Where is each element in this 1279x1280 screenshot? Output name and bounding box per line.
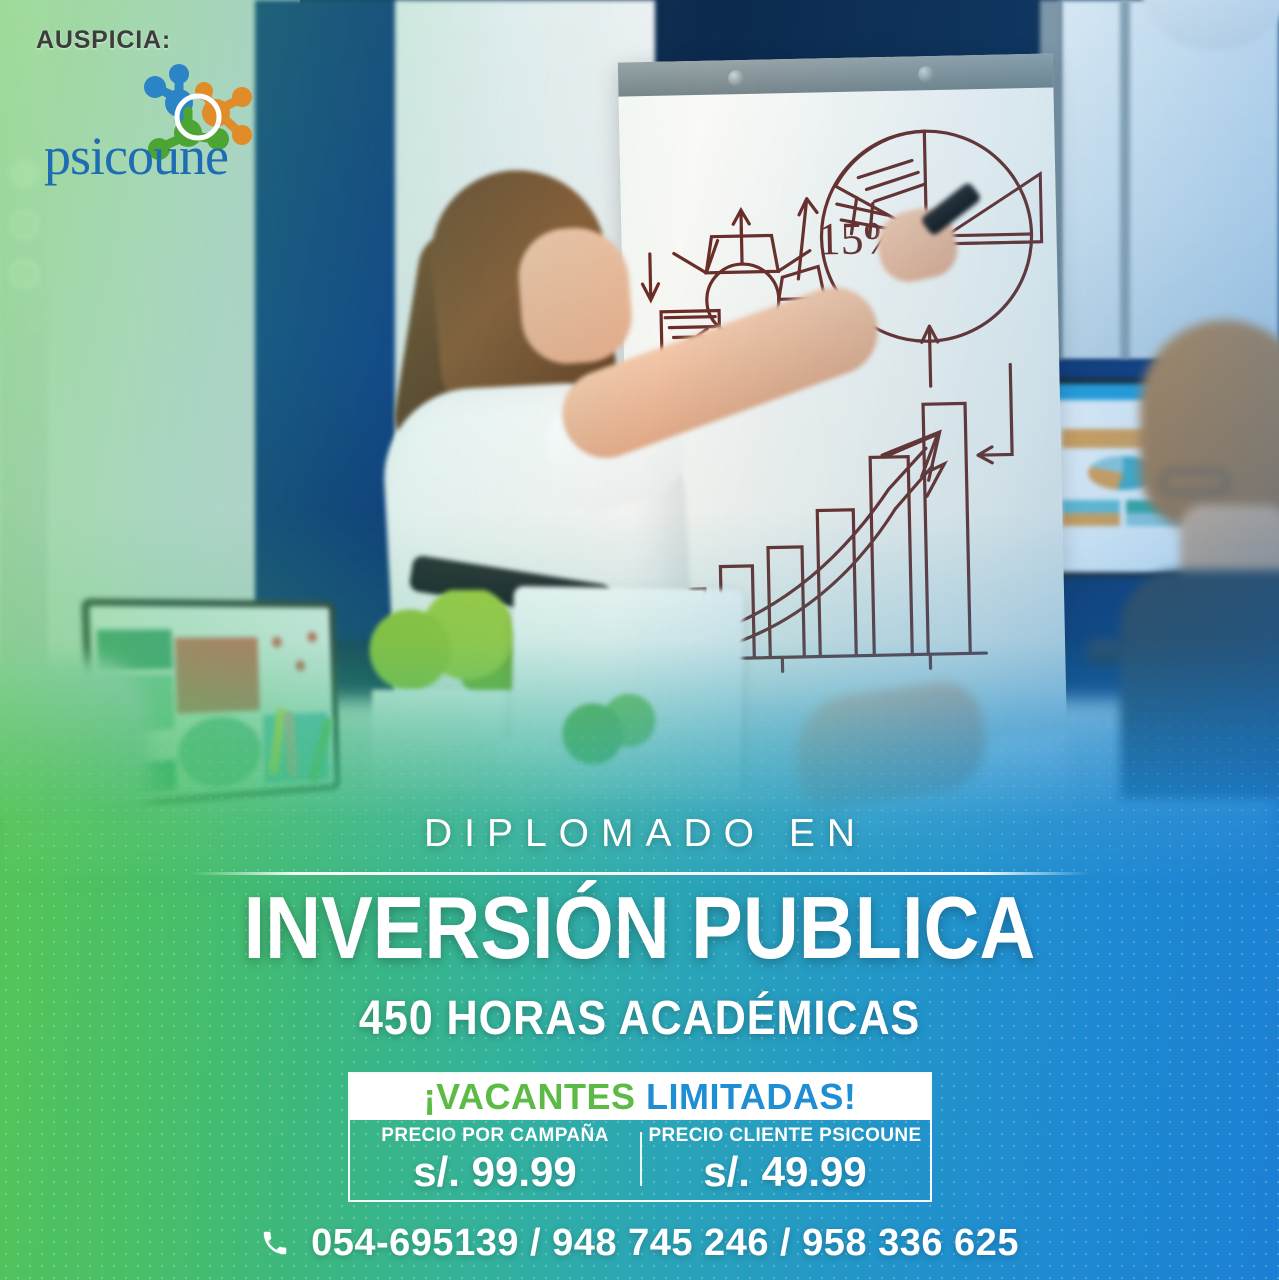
price-box: ¡VACANTES LIMITADAS! PRECIO POR CAMPAÑA …: [348, 1072, 932, 1202]
auspicia-label: AUSPICIA:: [36, 26, 316, 55]
phone-numbers: 054-695139 / 948 745 246 / 958 336 625: [311, 1222, 1019, 1264]
limited-seats-banner: ¡VACANTES LIMITADAS!: [350, 1074, 930, 1120]
page-title: INVERSIÓN PUBLICA: [77, 883, 1203, 973]
price-column-campaign: PRECIO POR CAMPAÑA s/. 99.99: [350, 1120, 640, 1200]
headline-divider: [190, 872, 1090, 875]
psicoune-wordmark: psicoune: [44, 129, 228, 183]
price-divider: [640, 1132, 642, 1186]
price-value-client: s/. 49.99: [703, 1148, 866, 1196]
phone-icon: [260, 1225, 290, 1268]
banner-part-1: ¡VACANTES: [424, 1076, 636, 1118]
price-column-client: PRECIO CLIENTE PSICOUNE s/. 49.99: [640, 1120, 930, 1200]
price-label-campaign: PRECIO POR CAMPAÑA: [381, 1125, 608, 1147]
sponsor-block: AUSPICIA:: [36, 26, 316, 197]
headline-block: DIPLOMADO EN INVERSIÓN PUBLICA 450 HORAS…: [0, 812, 1279, 1046]
subtitle-hours: 450 HORAS ACADÉMICAS: [64, 991, 1215, 1046]
promo-poster: 15%: [0, 0, 1279, 1280]
price-row: PRECIO POR CAMPAÑA s/. 99.99 PRECIO CLIE…: [350, 1120, 930, 1200]
price-value-campaign: s/. 99.99: [413, 1148, 576, 1196]
price-label-client: PRECIO CLIENTE PSICOUNE: [648, 1125, 921, 1147]
pretitle: DIPLOMADO EN: [0, 812, 1279, 856]
banner-part-2: LIMITADAS!: [646, 1076, 856, 1118]
psicoune-logo[interactable]: psicoune: [36, 57, 286, 197]
contact-block[interactable]: 054-695139 / 948 745 246 / 958 336 625: [0, 1222, 1279, 1268]
